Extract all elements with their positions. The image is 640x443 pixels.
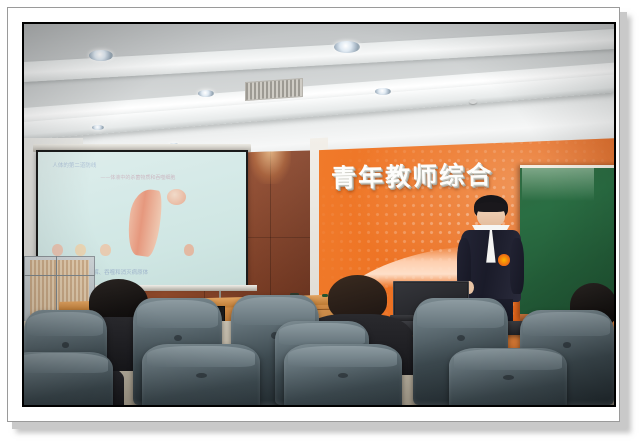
auditorium-seat[interactable] (449, 348, 567, 405)
banner-headline: 青年教师综合 (330, 156, 493, 195)
slide-vessel-graphic (125, 187, 165, 257)
presenter-arm-right (510, 238, 524, 294)
photograph: 青年教师综合 人体的第二道防线 ——体液中的杀菌物质和吞噬细胞 功能： (24, 24, 614, 405)
slide-microbe-icon (52, 244, 62, 256)
presenter-badge (498, 254, 510, 265)
slide-microbe-icon (100, 244, 110, 256)
slide-subtitle: ——体液中的杀菌物质和吞噬细胞 (100, 174, 175, 181)
window-mullion (24, 275, 95, 276)
photo-border: 青年教师综合 人体的第二道防线 ——体液中的杀菌物质和吞噬细胞 功能： (22, 22, 616, 407)
slide-microbe-icon (75, 244, 85, 256)
auditorium-seat[interactable] (142, 344, 260, 405)
downlight-icon (334, 41, 360, 53)
chalkboard-glare (522, 168, 593, 202)
slide-title: 人体的第二道防线 (52, 161, 96, 169)
downlight-icon (375, 88, 391, 95)
slide-microbe-icon (184, 244, 194, 256)
auditorium-seat[interactable] (284, 344, 402, 405)
slide-cell-graphic (167, 189, 186, 205)
auditorium-seat[interactable] (24, 352, 113, 405)
downlight-icon (198, 90, 214, 97)
wall-wash-light (249, 150, 291, 184)
smoke-detector-icon (469, 99, 477, 104)
downlight-icon (92, 125, 104, 130)
presenter-fringe (474, 202, 507, 212)
downlight-icon (89, 50, 113, 61)
photo-page: 青年教师综合 人体的第二道防线 ——体液中的杀菌物质和吞噬细胞 功能： (0, 0, 640, 443)
